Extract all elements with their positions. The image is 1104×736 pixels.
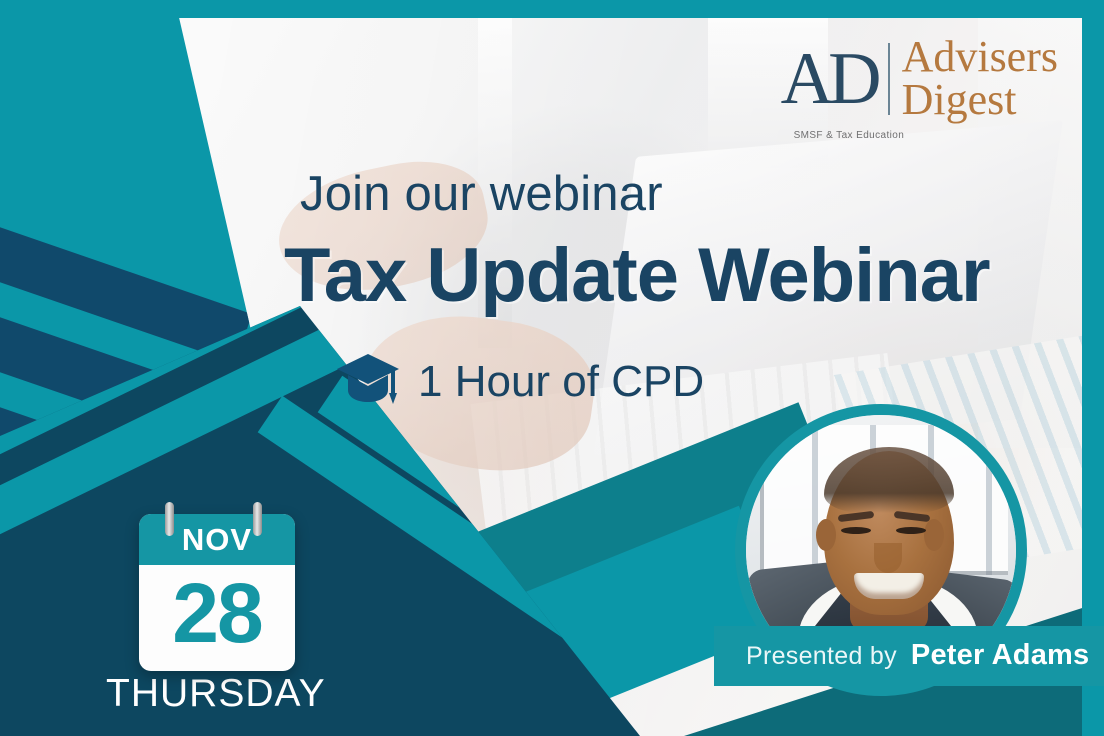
portrait-nose	[874, 543, 902, 573]
graduation-cap-icon	[336, 352, 400, 411]
calendar-weekday: THURSDAY	[106, 672, 326, 716]
presented-by-label: Presented by	[746, 642, 897, 671]
logo-divider	[888, 43, 890, 115]
cpd-label: 1 Hour of CPD	[418, 357, 704, 407]
page-title: Tax Update Webinar	[284, 232, 990, 319]
portrait-ear	[816, 519, 836, 551]
portrait-eye	[841, 527, 871, 534]
presented-by-bar: Presented by Peter Adams	[714, 626, 1104, 686]
cpd-badge: 1 Hour of CPD	[336, 352, 704, 411]
calendar-day: 28	[139, 565, 295, 671]
logo-wordmark: Advisers Digest SMSF & Tax Education	[902, 36, 1058, 121]
calendar-month: NOV	[139, 514, 295, 565]
advisers-digest-logo[interactable]: AD Advisers Digest SMSF & Tax Education	[781, 36, 1058, 121]
portrait-smile	[854, 573, 924, 599]
logo-monogram: AD	[781, 45, 876, 113]
webinar-promo-banner: AD Advisers Digest SMSF & Tax Education …	[0, 0, 1104, 736]
calendar-body: NOV 28	[139, 514, 295, 671]
presenter-name: Peter Adams	[911, 639, 1089, 672]
kicker-text: Join our webinar	[300, 166, 663, 222]
frame-top-bar	[0, 0, 1104, 18]
calendar-ring	[253, 502, 262, 536]
calendar-ring	[165, 502, 174, 536]
portrait-eye	[896, 527, 926, 534]
portrait-ear	[924, 519, 944, 551]
calendar-badge: NOV 28	[139, 514, 295, 671]
logo-word-line-1: Advisers	[902, 36, 1058, 79]
logo-tagline: SMSF & Tax Education	[794, 131, 905, 141]
logo-word-line-2: Digest	[902, 79, 1058, 122]
